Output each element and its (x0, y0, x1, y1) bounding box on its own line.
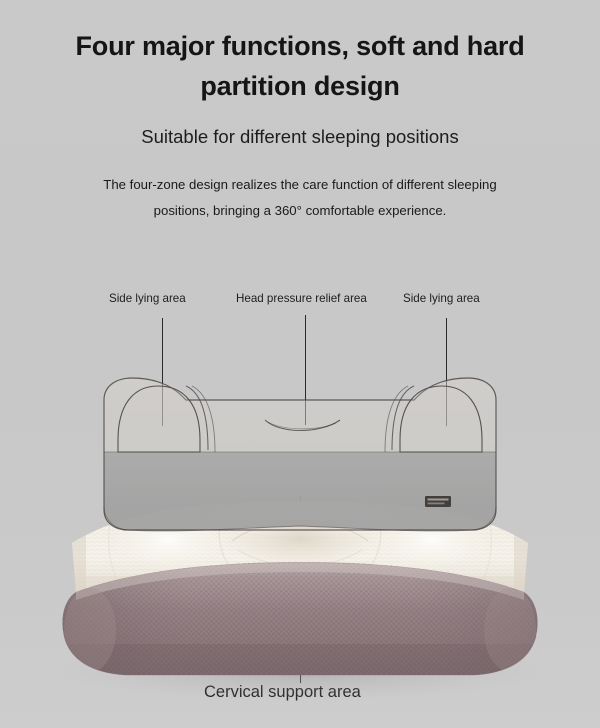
description-line-2: positions, bringing a 360° comfortable e… (0, 198, 600, 224)
pillow-illustration (0, 300, 600, 728)
cervical-support-band (104, 452, 496, 531)
infographic-page: Four major functions, soft and hard part… (0, 0, 600, 728)
brand-tag (425, 496, 451, 507)
headline-line-2: partition design (0, 66, 600, 106)
headline-line-1: Four major functions, soft and hard (75, 31, 524, 61)
page-title: Four major functions, soft and hard part… (0, 0, 600, 106)
subtitle: Suitable for different sleeping position… (0, 124, 600, 150)
description-paragraph: The four-zone design realizes the care f… (0, 172, 600, 224)
description-line-1: The four-zone design realizes the care f… (0, 172, 600, 198)
text-block: Four major functions, soft and hard part… (0, 0, 600, 224)
pillow-wireframe-overlay (104, 378, 496, 531)
